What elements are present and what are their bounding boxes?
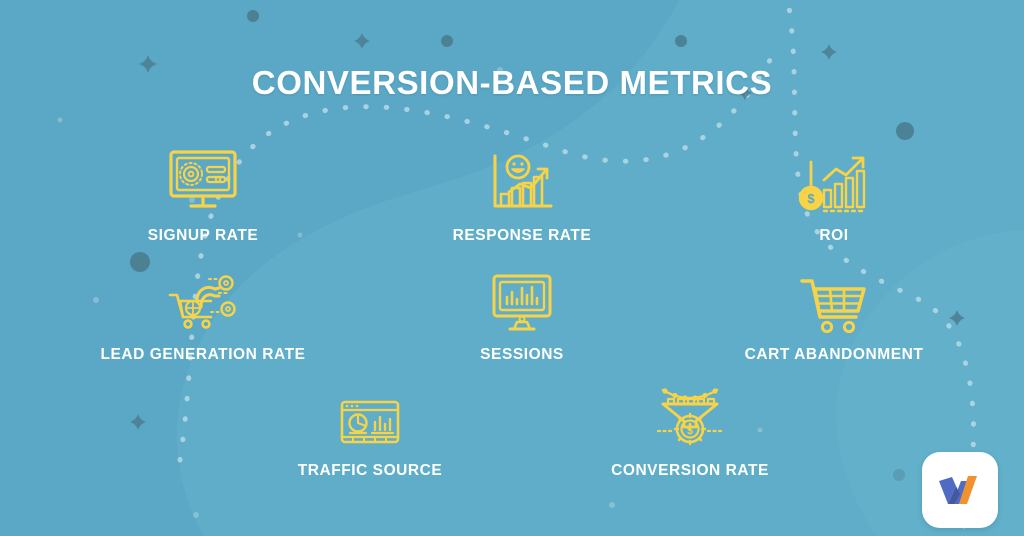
cart-magnet-leads-icon [63,259,343,333]
decor-circle [893,469,905,481]
decor-circle [675,35,687,47]
dollar-coin-growth-icon: $ [694,140,974,214]
metric-item-sessions[interactable]: SESSIONS [382,259,662,364]
metric-item-traffic-source[interactable]: TRAFFIC SOURCE [230,375,510,480]
w-logo-icon [937,472,983,508]
infographic-canvas: CONVERSION-BASED METRICS SIGNUP RATE [0,0,1024,536]
metric-label: LEAD GENERATION RATE [63,346,343,364]
monitor-bar-chart-icon [382,259,662,333]
metric-label: TRAFFIC SOURCE [230,462,510,480]
page-title: CONVERSION-BASED METRICS [0,64,1024,102]
metric-item-signup-rate[interactable]: SIGNUP RATE [63,140,343,245]
metric-item-response-rate[interactable]: RESPONSE RATE [382,140,662,245]
metric-label: SIGNUP RATE [63,227,343,245]
metric-item-roi[interactable]: $ ROI [694,140,974,245]
monitor-signup-form-icon [63,140,343,214]
metric-label: CONVERSION RATE [550,462,830,480]
svg-text:$: $ [807,191,815,206]
metric-item-lead-generation-rate[interactable]: LEAD GENERATION RATE [63,259,343,364]
w-logo-badge[interactable] [922,452,998,528]
metric-label: RESPONSE RATE [382,227,662,245]
decor-circle [441,35,453,47]
decor-circle [896,122,914,140]
sparkle-icon [354,33,370,49]
metric-label: ROI [694,227,974,245]
sparkle-icon [130,414,146,430]
metric-label: SESSIONS [382,346,662,364]
metric-item-conversion-rate[interactable]: $ CONVERSION RATE [550,375,830,480]
shopping-cart-icon [694,259,974,333]
funnel-dollar-gear-icon: $ [550,375,830,449]
metric-item-cart-abandonment[interactable]: CART ABANDONMENT [694,259,974,364]
svg-text:$: $ [687,425,693,437]
metric-label: CART ABANDONMENT [694,346,974,364]
decor-circle [247,10,259,22]
smiley-growth-chart-icon [382,140,662,214]
browser-analytics-icon [230,375,510,449]
